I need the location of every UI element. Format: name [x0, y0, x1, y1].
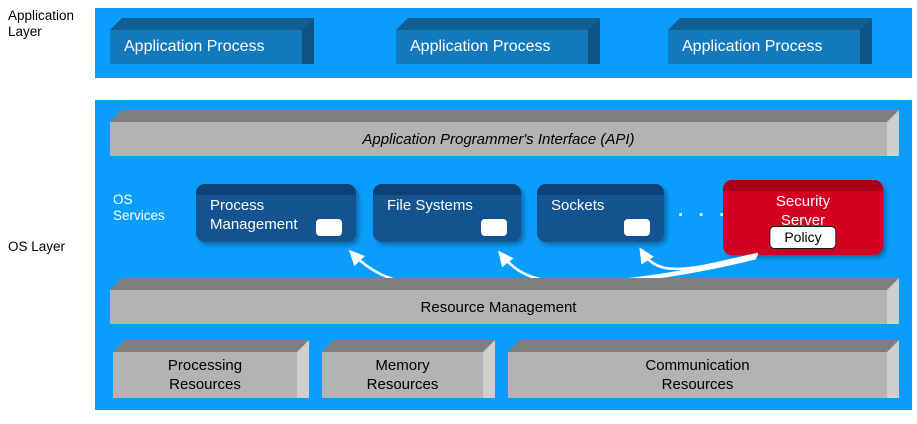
block-top-face: [668, 18, 872, 30]
service-box-process-management[interactable]: Process Management: [196, 184, 356, 242]
processing-resources-block[interactable]: Processing Resources: [113, 340, 309, 398]
block-top-face: [110, 110, 899, 122]
block-top-face: [110, 18, 314, 30]
block-top-face: [508, 340, 899, 352]
communication-resources-block[interactable]: Communication Resources: [508, 340, 899, 398]
service-label-sockets: Sockets: [537, 196, 664, 215]
security-server-label: Security Server: [723, 192, 883, 230]
communication-resources-label: Communication Resources: [645, 356, 749, 394]
service-label-file-systems: File Systems: [373, 196, 521, 215]
os-services-label: OS Services: [113, 192, 165, 224]
block-top-face: [322, 340, 495, 352]
application-layer-label: Application Layer: [8, 8, 88, 40]
service-top-face: [537, 184, 664, 195]
service-box-sockets[interactable]: Sockets: [537, 184, 664, 242]
diagram-canvas: Application Layer OS Layer Application P…: [0, 0, 917, 424]
services-ellipsis: . . .: [678, 200, 729, 222]
security-server-top-face: [723, 180, 883, 191]
application-process-block-3[interactable]: Application Process: [668, 18, 872, 64]
policy-box[interactable]: Policy: [769, 226, 836, 249]
api-bar[interactable]: Application Programmer's Interface (API): [110, 110, 899, 156]
hook-icon[interactable]: [316, 219, 342, 236]
memory-resources-block[interactable]: Memory Resources: [322, 340, 495, 398]
resource-management-bar[interactable]: Resource Management: [110, 278, 899, 324]
service-top-face: [373, 184, 521, 195]
api-bar-label: Application Programmer's Interface (API): [110, 122, 887, 156]
memory-resources-label-wrap: Memory Resources: [322, 352, 483, 398]
hook-icon[interactable]: [481, 219, 507, 236]
service-top-face: [196, 184, 356, 195]
block-top-face: [113, 340, 309, 352]
communication-resources-label-wrap: Communication Resources: [508, 352, 887, 398]
block-top-face: [110, 278, 899, 290]
application-process-block-1[interactable]: Application Process: [110, 18, 314, 64]
application-process-label-1: Application Process: [110, 30, 302, 64]
service-box-file-systems[interactable]: File Systems: [373, 184, 521, 242]
hook-icon[interactable]: [624, 219, 650, 236]
application-process-label-3: Application Process: [668, 30, 860, 64]
application-process-label-2: Application Process: [396, 30, 588, 64]
memory-resources-label: Memory Resources: [367, 356, 439, 394]
os-layer-label: OS Layer: [8, 239, 88, 255]
security-server-box[interactable]: Security Server Policy: [723, 180, 883, 255]
processing-resources-label: Processing Resources: [168, 356, 242, 394]
application-process-block-2[interactable]: Application Process: [396, 18, 600, 64]
block-top-face: [396, 18, 600, 30]
resource-management-label: Resource Management: [110, 290, 887, 324]
processing-resources-label-wrap: Processing Resources: [113, 352, 297, 398]
